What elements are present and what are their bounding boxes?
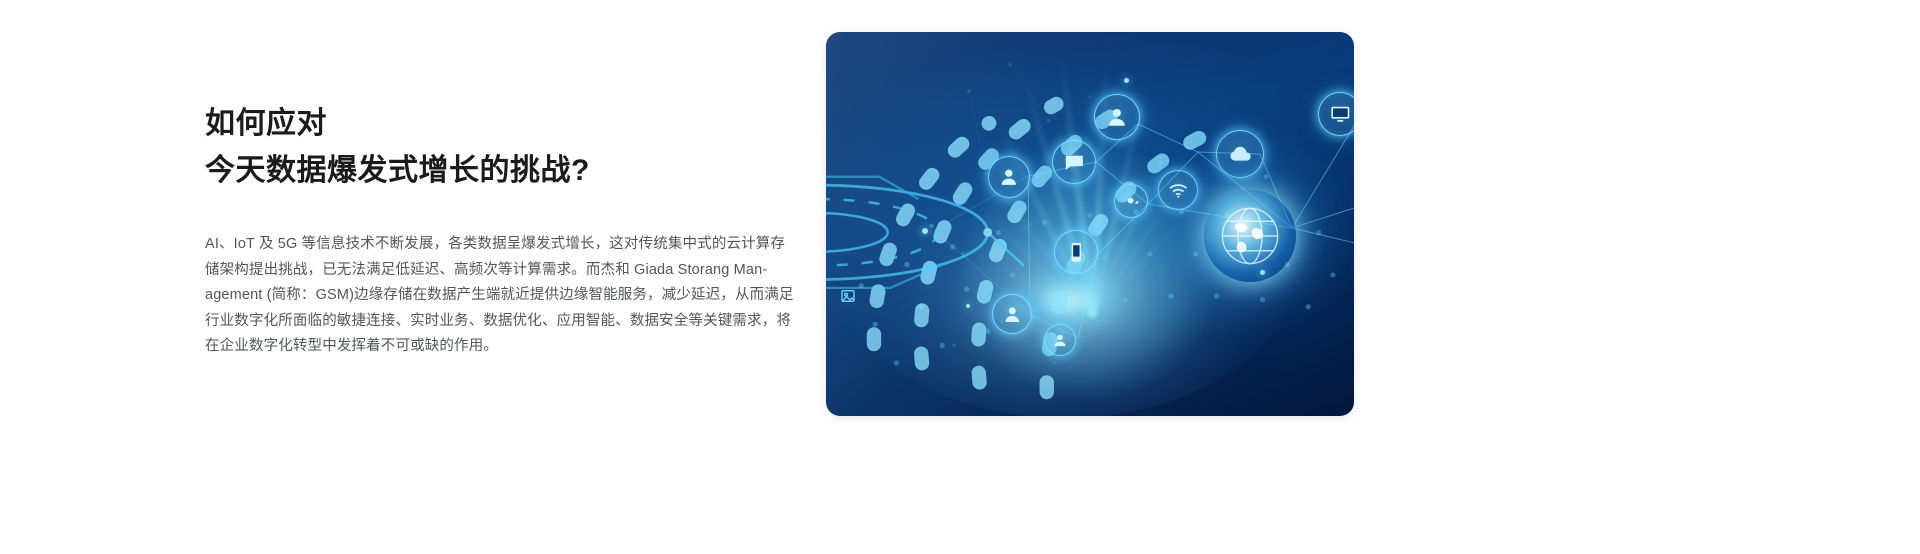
wifi-icon (1158, 170, 1198, 210)
globe-icon (1204, 190, 1296, 282)
user-icon (1044, 324, 1076, 356)
cloud-icon (1216, 130, 1264, 178)
image-icon (840, 288, 856, 304)
tech-base-graphic (826, 32, 1079, 416)
page-title-line-2: 今天数据爆发式增长的挑战? (205, 147, 805, 194)
accent-dot (922, 228, 928, 234)
accent-dot (1124, 78, 1129, 83)
body-line-3: agement (简称：GSM)边缘存储在数据产生端就近提供边缘智能服务，减少延… (205, 283, 801, 309)
user-icon (992, 294, 1032, 334)
body-line-2: 储架构提出挑战，已无法满足低延迟、高频次等计算需求。而杰和 Giada Stor… (205, 258, 801, 284)
accent-dot (1260, 270, 1265, 275)
user-icon (1094, 94, 1140, 140)
monitor-icon (1318, 92, 1354, 136)
accent-dot (966, 304, 970, 308)
gear-icon (1114, 184, 1148, 218)
hero-section: 如何应对 今天数据爆发式增长的挑战? AI、IoT 及 5G 等信息技术不断发展… (0, 0, 1920, 554)
body-line-4: 行业数字化所面临的敏捷连接、实时业务、数据优化、应用智能、数据安全等关键需求，将 (205, 309, 801, 335)
body-paragraph: AI、IoT 及 5G 等信息技术不断发展，各类数据呈爆发式增长，这对传统集中式… (205, 232, 801, 360)
user-icon (988, 156, 1030, 198)
smartphone-icon (1054, 230, 1098, 274)
page-title: 如何应对 今天数据爆发式增长的挑战? (205, 100, 805, 194)
hero-image (826, 32, 1354, 416)
text-column: 如何应对 今天数据爆发式增长的挑战? AI、IoT 及 5G 等信息技术不断发展… (205, 100, 805, 360)
body-line-1: AI、IoT 及 5G 等信息技术不断发展，各类数据呈爆发式增长，这对传统集中式… (205, 232, 801, 258)
body-line-5: 在企业数字化转型中发挥着不可或缺的作用。 (205, 334, 801, 360)
chat-icon (1052, 140, 1096, 184)
page-title-line-1: 如何应对 (205, 100, 805, 147)
